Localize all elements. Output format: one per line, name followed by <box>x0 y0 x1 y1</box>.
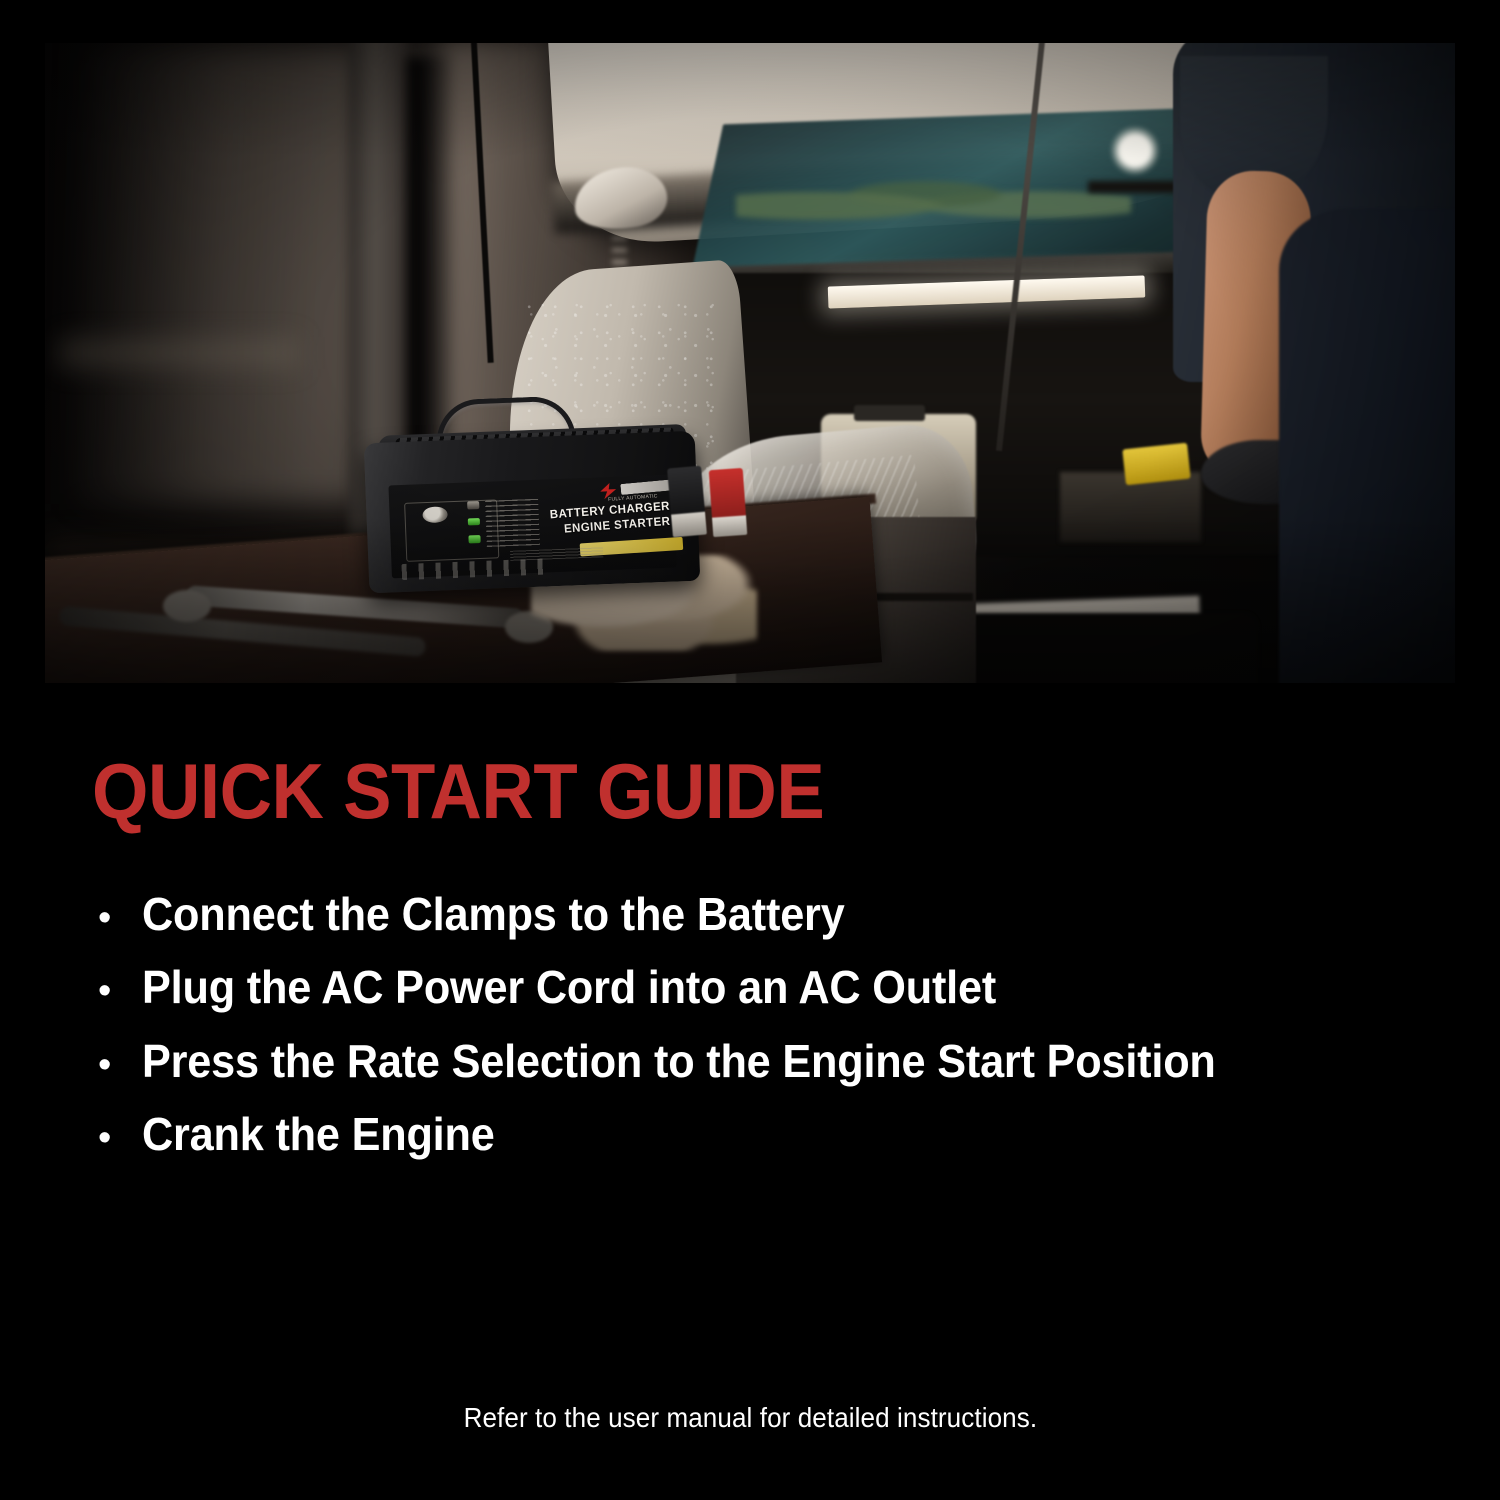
mechanic-hip <box>1279 209 1455 683</box>
battery-charger-product: FULLY AUTOMATIC BATTERY CHARGER ENGINE S… <box>363 402 701 594</box>
yellow-battery-terminal-cover <box>1122 443 1190 485</box>
charger-status-led-green-2 <box>469 535 481 543</box>
quick-start-steps-list: • Connect the Clamps to the Battery • Pl… <box>92 888 1432 1181</box>
step-label: Plug the AC Power Cord into an AC Outlet <box>142 961 996 1014</box>
charger-legend-text <box>486 499 541 548</box>
step-label: Press the Rate Selection to the Engine S… <box>142 1035 1216 1088</box>
bullet-dot-icon: • <box>92 899 142 937</box>
list-item: • Press the Rate Selection to the Engine… <box>92 1035 1432 1088</box>
page-title: QUICK START GUIDE <box>92 752 824 830</box>
step-label: Crank the Engine <box>142 1108 495 1161</box>
windshield-reflection <box>736 171 1131 229</box>
manual-reference-note: Refer to the user manual for detailed in… <box>0 1402 1500 1434</box>
black-battery-clamp <box>667 465 707 537</box>
manual-reference-text: Refer to the user manual for detailed in… <box>463 1402 1037 1434</box>
step-label: Connect the Clamps to the Battery <box>142 888 845 941</box>
bullet-dot-icon: • <box>92 1119 142 1157</box>
garage-shelf <box>59 337 299 369</box>
bullet-dot-icon: • <box>92 1046 142 1084</box>
charger-status-led-green-1 <box>468 517 480 525</box>
reservoir-cap <box>854 405 925 422</box>
hero-photo: FULLY AUTOMATIC BATTERY CHARGER ENGINE S… <box>45 43 1455 683</box>
quick-start-guide-page: FULLY AUTOMATIC BATTERY CHARGER ENGINE S… <box>0 0 1500 1500</box>
list-item: • Connect the Clamps to the Battery <box>92 888 1432 941</box>
bullet-dot-icon: • <box>92 972 142 1010</box>
list-item: • Crank the Engine <box>92 1108 1432 1161</box>
list-item: • Plug the AC Power Cord into an AC Outl… <box>92 961 1432 1014</box>
shop-lamp-glow <box>1110 126 1161 175</box>
charger-status-led-off <box>468 501 480 509</box>
red-battery-clamp <box>708 467 746 536</box>
wrench-head-left <box>163 590 211 622</box>
garage-scene-photo: FULLY AUTOMATIC BATTERY CHARGER ENGINE S… <box>45 43 1455 683</box>
